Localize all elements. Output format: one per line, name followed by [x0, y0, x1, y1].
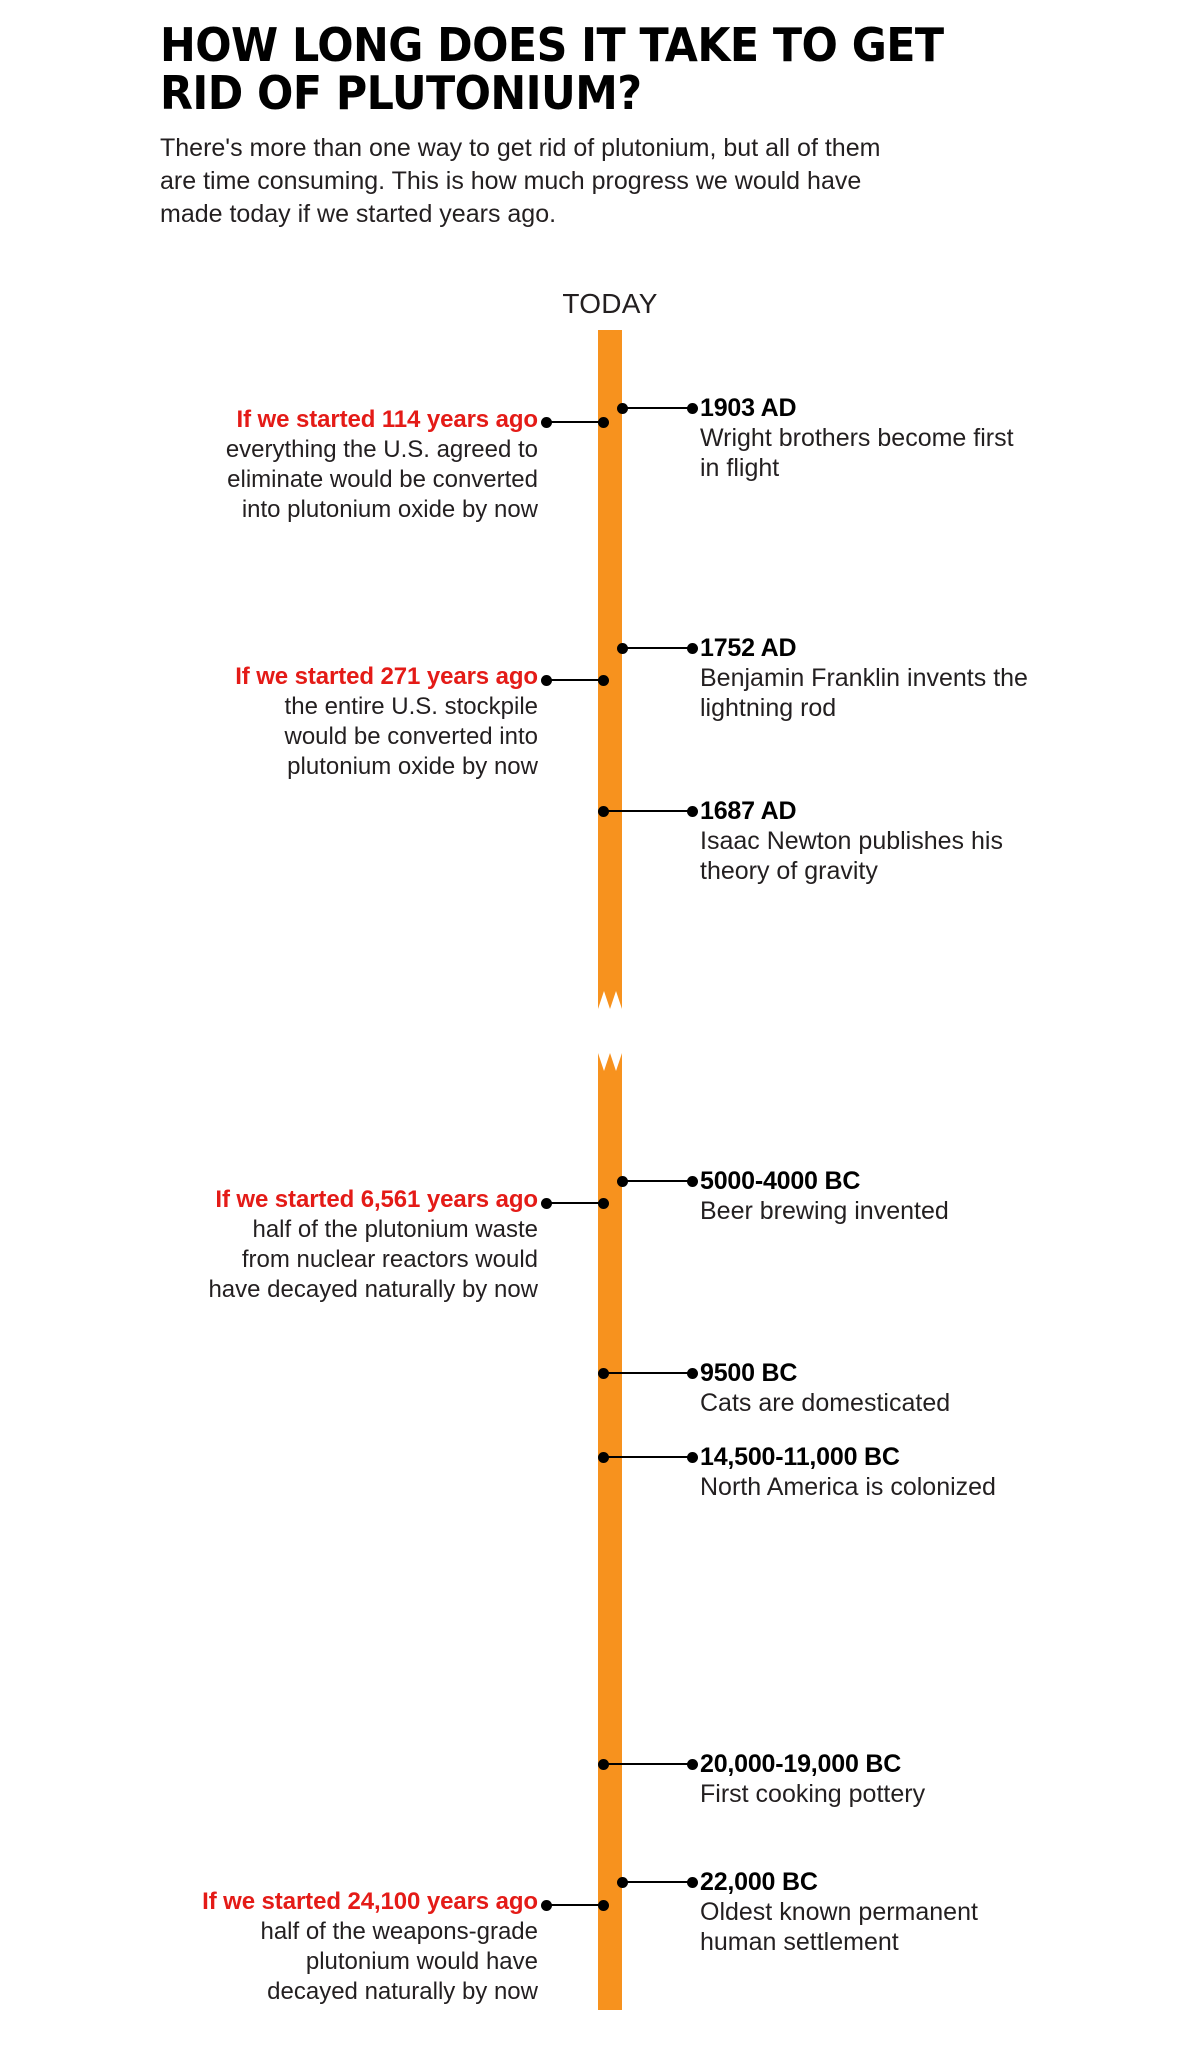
note-24100-years: If we started 24,100 years ago half of t…: [88, 1887, 538, 2007]
note-114-years: If we started 114 years ago everything t…: [118, 405, 538, 525]
timeline-bar-lower: [598, 1078, 622, 2010]
event-1687: 1687 AD Isaac Newton publishes his theor…: [700, 797, 1120, 887]
event-5000bc-date: 5000-4000 BC: [700, 1167, 1120, 1196]
connector-dot-end-9500bc: [687, 1368, 698, 1379]
connector-dot-end-note-6561: [541, 1198, 552, 1209]
connector-dot-end-note-114: [541, 417, 552, 428]
event-22000bc: 22,000 BC Oldest known permanent human s…: [700, 1868, 1120, 1958]
event-1903-desc: Wright brothers become first in flight: [700, 423, 1120, 484]
event-14500bc-desc: North America is colonized: [700, 1472, 1120, 1503]
event-14500bc-date: 14,500-11,000 BC: [700, 1443, 1120, 1472]
note-271-years-body: the entire U.S. stockpile would be conve…: [118, 692, 538, 782]
note-114-years-body: everything the U.S. agreed to eliminate …: [118, 435, 538, 525]
connector-dot-end-14500bc: [687, 1452, 698, 1463]
event-1752-date: 1752 AD: [700, 634, 1120, 663]
event-9500bc: 9500 BC Cats are domesticated: [700, 1359, 1120, 1418]
event-20000bc: 20,000-19,000 BC First cooking pottery: [700, 1750, 1120, 1809]
event-1752: 1752 AD Benjamin Franklin invents the li…: [700, 634, 1120, 724]
connector-dot-end-22000bc: [687, 1877, 698, 1888]
event-20000bc-desc: First cooking pottery: [700, 1779, 1120, 1810]
event-1687-desc: Isaac Newton publishes his theory of gra…: [700, 826, 1120, 887]
connector-line-note-114: [546, 421, 603, 423]
connector-line-1903: [622, 407, 692, 409]
connector-line-20000bc: [603, 1763, 692, 1765]
connector-dot-end-20000bc: [687, 1759, 698, 1770]
connector-line-1687: [603, 810, 692, 812]
event-1903-date: 1903 AD: [700, 394, 1120, 423]
event-1687-date: 1687 AD: [700, 797, 1120, 826]
connector-line-1752: [622, 647, 692, 649]
event-5000bc: 5000-4000 BC Beer brewing invented: [700, 1167, 1120, 1226]
note-271-years-head: If we started 271 years ago: [118, 662, 538, 691]
event-9500bc-desc: Cats are domesticated: [700, 1388, 1120, 1419]
event-1752-desc: Benjamin Franklin invents the lightning …: [700, 663, 1120, 724]
note-24100-years-body: half of the weapons-grade plutonium woul…: [88, 1917, 538, 2007]
connector-dot-end-5000bc: [687, 1176, 698, 1187]
connector-dot-end-note-271: [541, 675, 552, 686]
event-1903: 1903 AD Wright brothers become first in …: [700, 394, 1120, 484]
connector-line-22000bc: [622, 1881, 692, 1883]
connector-dot-end-1752: [687, 643, 698, 654]
event-5000bc-desc: Beer brewing invented: [700, 1196, 1120, 1227]
connector-dot-end-1903: [687, 403, 698, 414]
event-22000bc-date: 22,000 BC: [700, 1868, 1120, 1897]
connector-dot-end-1687: [687, 806, 698, 817]
event-20000bc-date: 20,000-19,000 BC: [700, 1750, 1120, 1779]
timeline-break-upper-icon: [598, 983, 622, 1009]
note-6561-years-head: If we started 6,561 years ago: [98, 1185, 538, 1214]
page-title: HOW LONG DOES IT TAKE TO GET RID OF PLUT…: [160, 22, 997, 118]
event-14500bc: 14,500-11,000 BC North America is coloni…: [700, 1443, 1120, 1502]
page-subtitle: There's more than one way to get rid of …: [160, 132, 900, 231]
note-24100-years-head: If we started 24,100 years ago: [88, 1887, 538, 1916]
connector-line-5000bc: [622, 1180, 692, 1182]
note-6561-years: If we started 6,561 years ago half of th…: [98, 1185, 538, 1305]
connector-line-note-24100: [546, 1904, 603, 1906]
connector-line-14500bc: [603, 1456, 692, 1458]
note-114-years-head: If we started 114 years ago: [118, 405, 538, 434]
connector-line-note-271: [546, 679, 603, 681]
event-9500bc-date: 9500 BC: [700, 1359, 1120, 1388]
header: HOW LONG DOES IT TAKE TO GET RID OF PLUT…: [160, 22, 1060, 231]
today-label: TODAY: [550, 288, 670, 320]
event-22000bc-desc: Oldest known permanent human settlement: [700, 1897, 1120, 1958]
connector-line-9500bc: [603, 1372, 692, 1374]
timeline-break-lower-icon: [598, 1053, 622, 1079]
note-271-years: If we started 271 years ago the entire U…: [118, 662, 538, 782]
connector-line-note-6561: [546, 1202, 603, 1204]
timeline-bar-upper: [598, 330, 622, 985]
connector-dot-end-note-24100: [541, 1900, 552, 1911]
note-6561-years-body: half of the plutonium waste from nuclear…: [98, 1215, 538, 1305]
